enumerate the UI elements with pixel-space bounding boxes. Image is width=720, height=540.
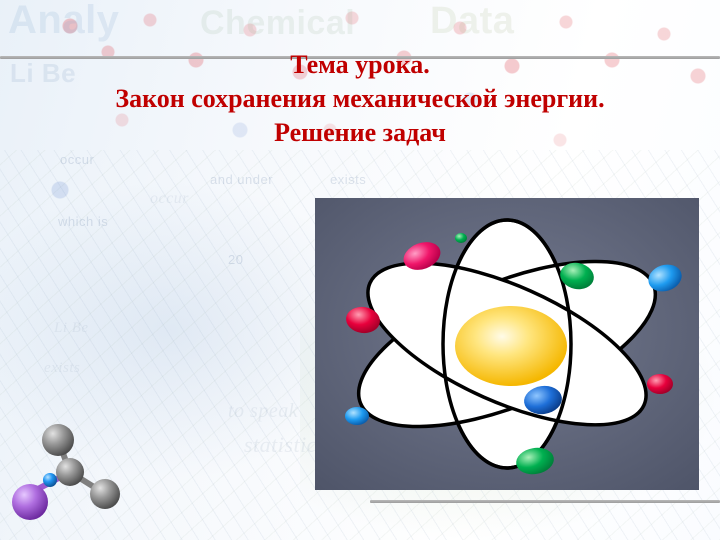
watermark-word-data: Data [430,0,514,43]
nucleus [455,306,567,386]
watermark-script-tospeak: to speak [228,400,298,423]
page-title: Тема урока. Закон сохранения механическо… [0,48,720,150]
watermark-word-exists: exists [330,172,366,187]
molecule-model [8,412,148,530]
atom-illustration [315,198,699,490]
watermark-script-li-be: Li Be [54,320,89,337]
watermark-word-chemical: Chemical [200,4,355,43]
atom-blue-small [43,473,57,487]
watermark-word-which-is: which is [58,214,108,229]
watermark-script-exists: exists [44,360,80,377]
watermark-script-occur: occur [150,190,189,208]
watermark-word-20: 20 [228,252,243,267]
title-line-3: Решение задач [0,116,720,150]
electron-red-right [647,374,673,394]
watermark-script-statistics: statistics [244,432,326,458]
title-line-1: Тема урока. [0,48,720,82]
atom-grey-right [90,479,120,509]
atom-grey-middle [56,458,84,486]
watermark-word-and-under: and under [210,172,273,187]
atom-purple [12,484,48,520]
electron-green-small-top [455,233,467,243]
electron-blue-bottom-left [345,407,369,425]
watermark-word-occur: occur [60,152,94,167]
horizontal-rule-bottom [370,500,720,503]
watermark-word-analy: Analy [8,0,119,43]
title-line-2: Закон сохранения механической энергии. [0,82,720,116]
atom-grey-top [42,424,74,456]
slide: Analy Chemical Data Li Be occur which is… [0,0,720,540]
